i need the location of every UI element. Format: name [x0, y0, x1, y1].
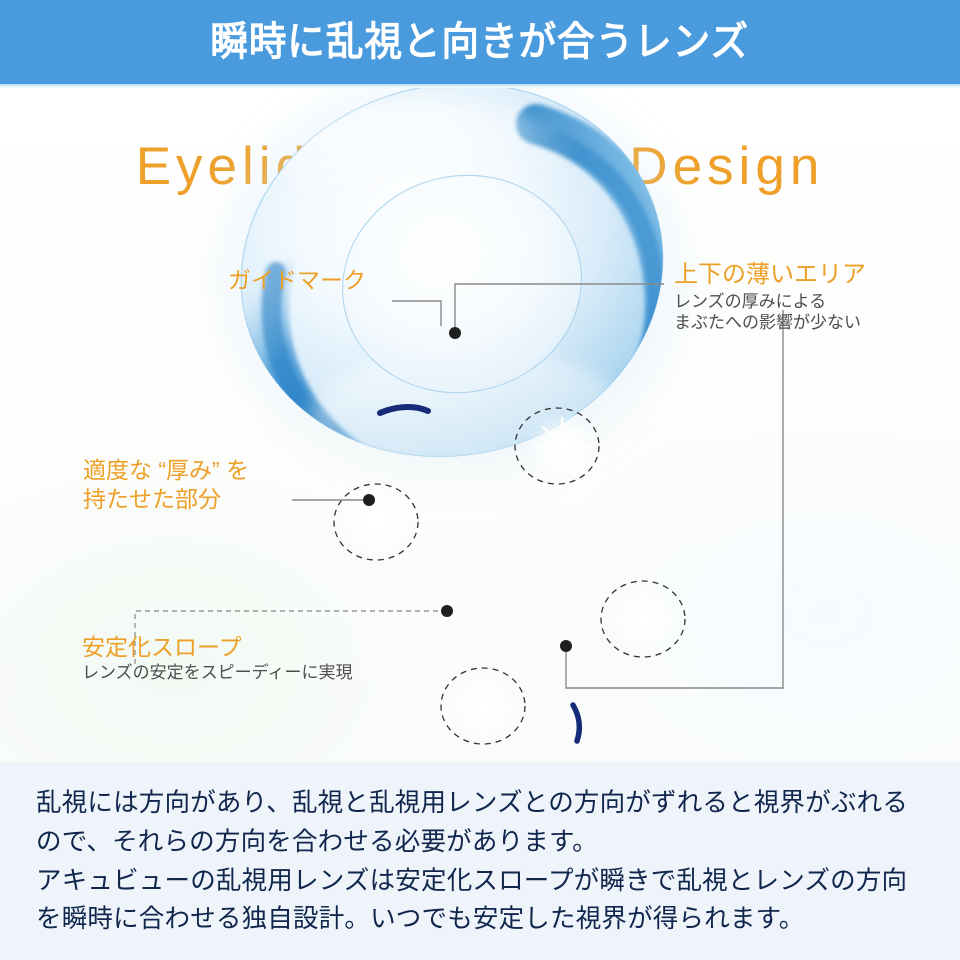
illustration-stage: Eyelid Stabilized Design アイリッド・スタビライズド・デ… [0, 88, 960, 762]
bottom-description-panel: 乱視には方向があり、乱視と乱視用レンズとの方向がずれると視界がぶれるので、それら… [0, 762, 960, 960]
page-root: 瞬時に乱視と向きが合うレンズ Eyelid Stabilized Design … [0, 0, 960, 960]
callout-guide-mark: ガイドマーク [228, 266, 366, 295]
callout-thin-area-headline: 上下の薄いエリア [674, 260, 866, 291]
guide-mark-bottom [573, 705, 579, 741]
callout-thickness-headline-2: 持たせた部分 [83, 485, 249, 514]
callout-thin-area-subline-2: まぶたへの影響が少ない [674, 312, 866, 334]
header-banner: 瞬時に乱視と向きが合うレンズ [0, 0, 960, 84]
callout-guide-mark-headline: ガイドマーク [228, 266, 366, 295]
callout-slope-headline: 安定化スロープ [82, 633, 352, 662]
callout-thin-area-subline-1: レンズの厚みによる [674, 291, 866, 313]
bottom-description-text: 乱視には方向があり、乱視と乱視用レンズとの方向がずれると視界がぶれるので、それら… [36, 784, 928, 939]
callout-thickness: 適度な “厚み” を 持たせた部分 [83, 456, 249, 515]
callout-stabilization-slope: 安定化スロープ レンズの安定をスピーディーに実現 [82, 633, 352, 684]
header-title: 瞬時に乱視と向きが合うレンズ [211, 22, 750, 62]
sparkle-marker-right [601, 581, 685, 657]
sparkle-marker-left [334, 484, 418, 560]
callout-thickness-headline-1: 適度な “厚み” を [83, 456, 249, 485]
callout-thin-area: 上下の薄いエリア レンズの厚みによる まぶたへの影響が少ない [674, 260, 866, 334]
callout-slope-subline: レンズの安定をスピーディーに実現 [82, 662, 352, 684]
sparkle-marker-bottom [441, 668, 525, 744]
